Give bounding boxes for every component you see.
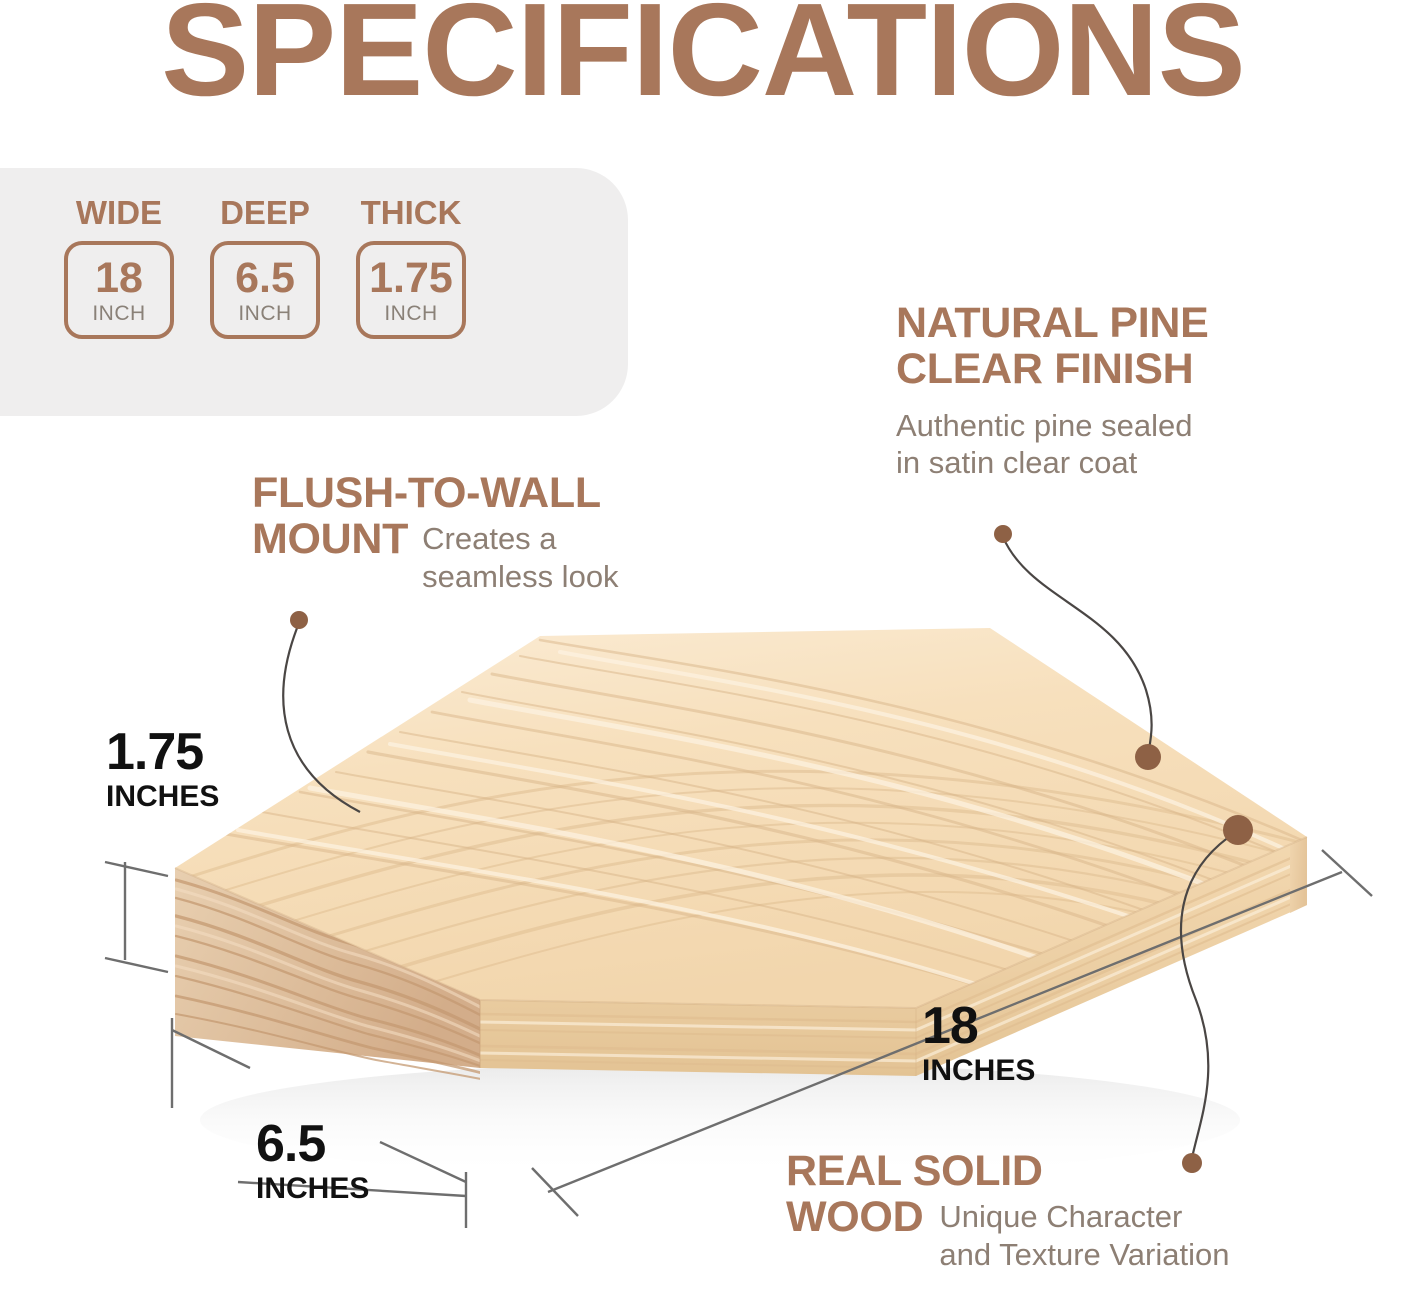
dot-pine-surface	[1135, 744, 1161, 770]
callout-flush-mount-title-line2: MOUNT	[252, 516, 408, 562]
product-illustration	[0, 0, 1406, 1289]
callout-natural-pine-sub: Authentic pine sealed in satin clear coa…	[896, 407, 1316, 481]
plank-right-cap	[1290, 837, 1307, 913]
dimension-value-width: 18	[922, 1000, 1035, 1052]
callout-natural-pine-title-line2: CLEAR FINISH	[896, 346, 1316, 392]
callout-real-solid-wood-sub: Unique Character and Texture Variation	[939, 1198, 1229, 1272]
dot-flush-mount	[290, 611, 308, 629]
callout-real-solid-wood-sub-line1: Unique Character	[939, 1198, 1229, 1235]
dimension-unit-thickness: INCHES	[106, 782, 219, 812]
dimension-label-width: 18 INCHES	[922, 1000, 1035, 1086]
dimension-line-thickness	[105, 862, 168, 972]
dot-wood-edge	[1223, 815, 1253, 845]
callout-flush-mount-second-row: MOUNT Creates a seamless look	[252, 516, 812, 594]
callout-flush-mount-sub: Creates a seamless look	[422, 520, 618, 594]
dimension-unit-width: INCHES	[922, 1056, 1035, 1086]
dimension-value-depth: 6.5	[256, 1118, 369, 1170]
dimension-label-thickness: 1.75 INCHES	[106, 726, 219, 812]
callout-natural-pine-title-line1: NATURAL PINE	[896, 300, 1316, 346]
callout-flush-mount-sub-line2: seamless look	[422, 558, 618, 595]
callout-real-solid-wood-second-row: WOOD Unique Character and Texture Variat…	[786, 1194, 1386, 1272]
dot-natural-pine	[994, 525, 1012, 543]
dimension-label-depth: 6.5 INCHES	[256, 1118, 369, 1204]
callout-flush-mount-sub-line1: Creates a	[422, 520, 618, 557]
callout-natural-pine: NATURAL PINE CLEAR FINISH Authentic pine…	[896, 300, 1316, 481]
wood-plank	[175, 628, 1316, 1080]
callout-real-solid-wood-sub-line2: and Texture Variation	[939, 1236, 1229, 1273]
callout-flush-mount-title-line1: FLUSH-TO-WALL	[252, 470, 812, 516]
callout-natural-pine-title: NATURAL PINE CLEAR FINISH	[896, 300, 1316, 393]
callout-natural-pine-sub-line1: Authentic pine sealed	[896, 407, 1316, 444]
dimension-value-thickness: 1.75	[106, 726, 219, 778]
callout-real-solid-wood-title-line1: REAL SOLID	[786, 1148, 1386, 1194]
callout-flush-mount: FLUSH-TO-WALL MOUNT Creates a seamless l…	[252, 470, 812, 595]
callout-real-solid-wood: REAL SOLID WOOD Unique Character and Tex…	[786, 1148, 1386, 1273]
callout-real-solid-wood-title-line2: WOOD	[786, 1194, 923, 1240]
callout-natural-pine-sub-line2: in satin clear coat	[896, 444, 1316, 481]
dimension-unit-depth: INCHES	[256, 1174, 369, 1204]
